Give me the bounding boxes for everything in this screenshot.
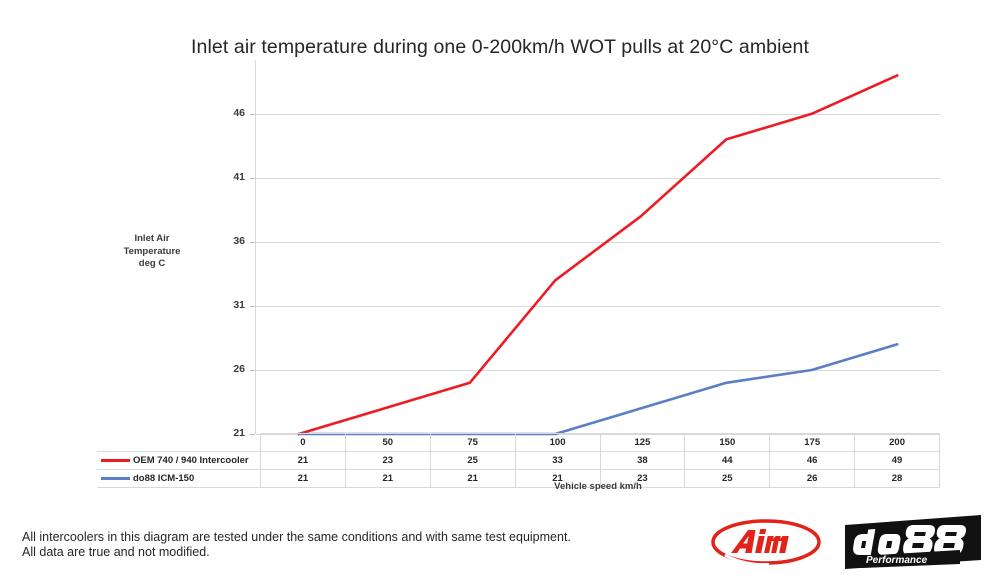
data-value-cell: 33 [515, 452, 600, 470]
y-tick-mark [250, 114, 255, 115]
x-tick-label: 150 [685, 434, 770, 452]
legend-label: OEM 740 / 940 Intercooler [133, 455, 249, 466]
page-title: Inlet air temperature during one 0-200km… [0, 36, 1000, 59]
y-tick-label: 36 [205, 235, 245, 247]
x-tick-label: 100 [515, 434, 600, 452]
data-value-cell: 44 [685, 452, 770, 470]
y-tick-label: 46 [205, 107, 245, 119]
data-value-cell: 25 [430, 452, 515, 470]
x-tick-label: 50 [345, 434, 430, 452]
x-tick-label: 75 [430, 434, 515, 452]
legend-entry[interactable]: OEM 740 / 940 Intercooler [97, 452, 261, 470]
y-axis-title: Inlet Air Temperature deg C [96, 233, 208, 271]
do88-logo-subtext: Performance [866, 555, 928, 566]
data-value-cell: 46 [770, 452, 855, 470]
y-tick-label: 31 [205, 299, 245, 311]
aim-logo [710, 516, 822, 568]
y-tick-mark [250, 178, 255, 179]
footer-line-2: All data are true and not modified. [22, 545, 571, 560]
data-value-cell: 23 [345, 452, 430, 470]
legend-entry[interactable]: do88 ICM-150 [97, 470, 261, 488]
do88-logo: Performance [842, 514, 984, 570]
chart-plot-area [256, 60, 940, 434]
data-value-cell: 38 [600, 452, 685, 470]
legend-swatch-icon [101, 477, 130, 480]
x-tick-label: 0 [261, 434, 346, 452]
legend-swatch-icon [101, 459, 130, 462]
series-line [299, 75, 898, 434]
footer-line-1: All intercoolers in this diagram are tes… [22, 530, 571, 545]
x-axis-title: Vehicle speed km/h [256, 481, 940, 492]
y-tick-label: 41 [205, 171, 245, 183]
series-line [299, 344, 898, 434]
y-tick-mark [250, 242, 255, 243]
table-row: OEM 740 / 940 Intercooler212325333844464… [97, 452, 940, 470]
x-tick-label: 175 [770, 434, 855, 452]
y-axis-title-line-2: Temperature [96, 246, 208, 259]
data-value-cell: 49 [855, 452, 940, 470]
footer-note: All intercoolers in this diagram are tes… [22, 530, 571, 560]
logo-row: Performance [706, 512, 984, 572]
y-tick-mark [250, 370, 255, 371]
table-corner-cell [97, 434, 261, 452]
y-axis-title-line-3: deg C [96, 258, 208, 271]
y-tick-mark [250, 306, 255, 307]
x-tick-label: 125 [600, 434, 685, 452]
y-axis-title-line-1: Inlet Air [96, 233, 208, 246]
series-layer [256, 60, 940, 434]
table-row: 05075100125150175200 [97, 434, 940, 452]
chart-data-table: 05075100125150175200OEM 740 / 940 Interc… [97, 433, 940, 488]
data-value-cell: 21 [261, 452, 346, 470]
x-tick-label: 200 [855, 434, 940, 452]
legend-label: do88 ICM-150 [133, 473, 194, 484]
y-tick-label: 26 [205, 363, 245, 375]
